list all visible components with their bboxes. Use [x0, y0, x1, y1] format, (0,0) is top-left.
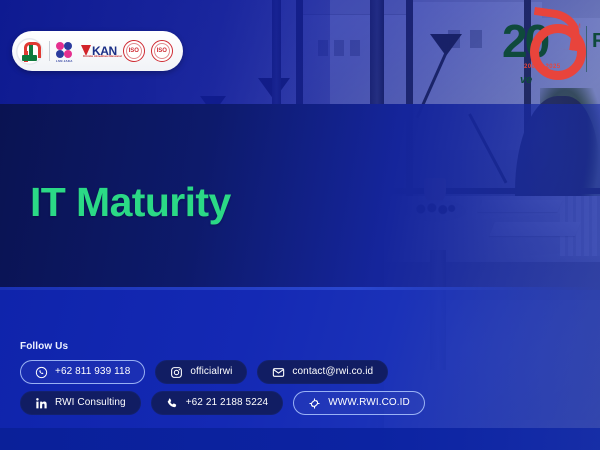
contact-chips: +62 811 939 118 officialrwi — [20, 360, 425, 422]
lsn-dot — [56, 50, 64, 58]
whatsapp-icon — [35, 366, 48, 379]
kan-logo-icon: KAN Komite Akreditasi Nasional — [81, 40, 117, 62]
iso-seal-1-icon: ISO — [123, 40, 145, 62]
kan-logo-subtitle: Komite Akreditasi Nasional — [83, 54, 122, 58]
anniversary-tagline: ve — [520, 74, 532, 86]
iso-seal-label: ISO — [129, 48, 139, 54]
instagram-label: officialrwi — [190, 367, 232, 377]
follow-us-label: Follow Us — [20, 341, 68, 352]
rwi-logo-icon — [16, 38, 43, 65]
iso-seal-2-icon: ISO — [151, 40, 173, 62]
whatsapp-label: +62 811 939 118 — [55, 367, 130, 377]
presentation-slide: LSN JAKA KAN Komite Akreditasi Nasional … — [0, 0, 600, 450]
lsn-logo-label: LSN JAKA — [56, 59, 73, 63]
lsn-logo-icon: LSN JAKA — [56, 42, 75, 61]
instagram-chip[interactable]: officialrwi — [155, 360, 247, 384]
linkedin-chip[interactable]: RWI Consulting — [20, 391, 141, 415]
anniversary-divider — [586, 26, 587, 72]
anniversary-brand-mark: R — [592, 30, 600, 53]
badge-divider — [49, 41, 50, 61]
contact-row: +62 811 939 118 officialrwi — [20, 360, 425, 384]
anniversary-years: 2005 - 2025 — [524, 64, 560, 70]
lsn-dot — [56, 42, 64, 50]
anniversary-logo: 20 TM 2005 - 2025 ve R — [502, 12, 594, 98]
lsn-dot — [64, 42, 72, 50]
phone-icon — [166, 397, 179, 410]
website-icon — [308, 397, 321, 410]
email-label: contact@rwi.co.id — [292, 367, 373, 377]
website-chip[interactable]: WWW.RWI.CO.ID — [293, 391, 425, 415]
rwi-logo-part — [22, 55, 37, 61]
whatsapp-chip[interactable]: +62 811 939 118 — [20, 360, 145, 384]
rwi-logo-part — [29, 45, 33, 55]
iso-seal-label: ISO — [157, 48, 167, 54]
website-label: WWW.RWI.CO.ID — [328, 398, 410, 408]
email-icon — [272, 366, 285, 379]
phone-chip[interactable]: +62 21 2188 5224 — [151, 391, 284, 415]
certification-badge: LSN JAKA KAN Komite Akreditasi Nasional … — [12, 31, 183, 71]
linkedin-icon — [35, 397, 48, 410]
page-title: IT Maturity — [30, 182, 231, 223]
lsn-dot — [64, 50, 72, 58]
phone-label: +62 21 2188 5224 — [186, 398, 269, 408]
email-chip[interactable]: contact@rwi.co.id — [257, 360, 388, 384]
trademark-symbol: TM — [572, 24, 581, 30]
linkedin-label: RWI Consulting — [55, 398, 126, 408]
bottom-accent-bar — [0, 428, 600, 450]
instagram-icon — [170, 366, 183, 379]
contact-row: RWI Consulting +62 21 2188 5224 — [20, 391, 425, 415]
